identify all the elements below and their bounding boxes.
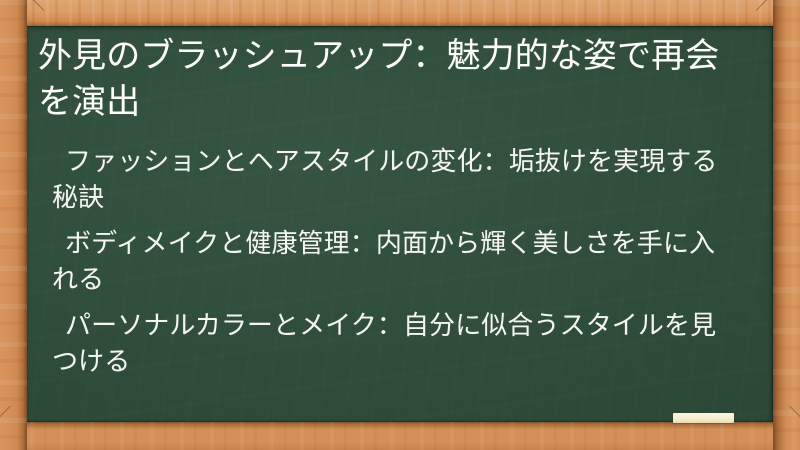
slide-bullet-list: ファッションとヘアスタイルの変化：垢抜けを実現する秘訣 ボディメイクと健康管理：… — [32, 143, 755, 379]
list-item: ファッションとヘアスタイルの変化：垢抜けを実現する秘訣 — [52, 143, 755, 216]
chalk-stick-icon — [673, 413, 734, 423]
frame-corner-top-right — [756, 0, 800, 44]
chalkboard-frame: 外見のブラッシュアップ：魅力的な姿で再会を演出 ファッションとヘアスタイルの変化… — [0, 0, 800, 450]
frame-rail-right — [773, 0, 800, 450]
slide-content: 外見のブラッシュアップ：魅力的な姿で再会を演出 ファッションとヘアスタイルの変化… — [26, 26, 773, 379]
frame-rail-top — [0, 0, 800, 26]
slide-title: 外見のブラッシュアップ：魅力的な姿で再会を演出 — [32, 26, 755, 125]
frame-corner-bottom-right — [756, 406, 800, 450]
chalkboard-surface: 外見のブラッシュアップ：魅力的な姿で再会を演出 ファッションとヘアスタイルの変化… — [26, 26, 773, 422]
frame-ledge-bottom — [0, 422, 800, 450]
list-item: ボディメイクと健康管理：内面から輝く美しさを手に入れる — [52, 225, 755, 298]
list-item: パーソナルカラーとメイク：自分に似合うスタイルを見つける — [52, 307, 755, 380]
frame-corner-bottom-left — [0, 406, 44, 450]
frame-rail-left — [0, 0, 27, 450]
frame-corner-top-left — [0, 0, 44, 44]
